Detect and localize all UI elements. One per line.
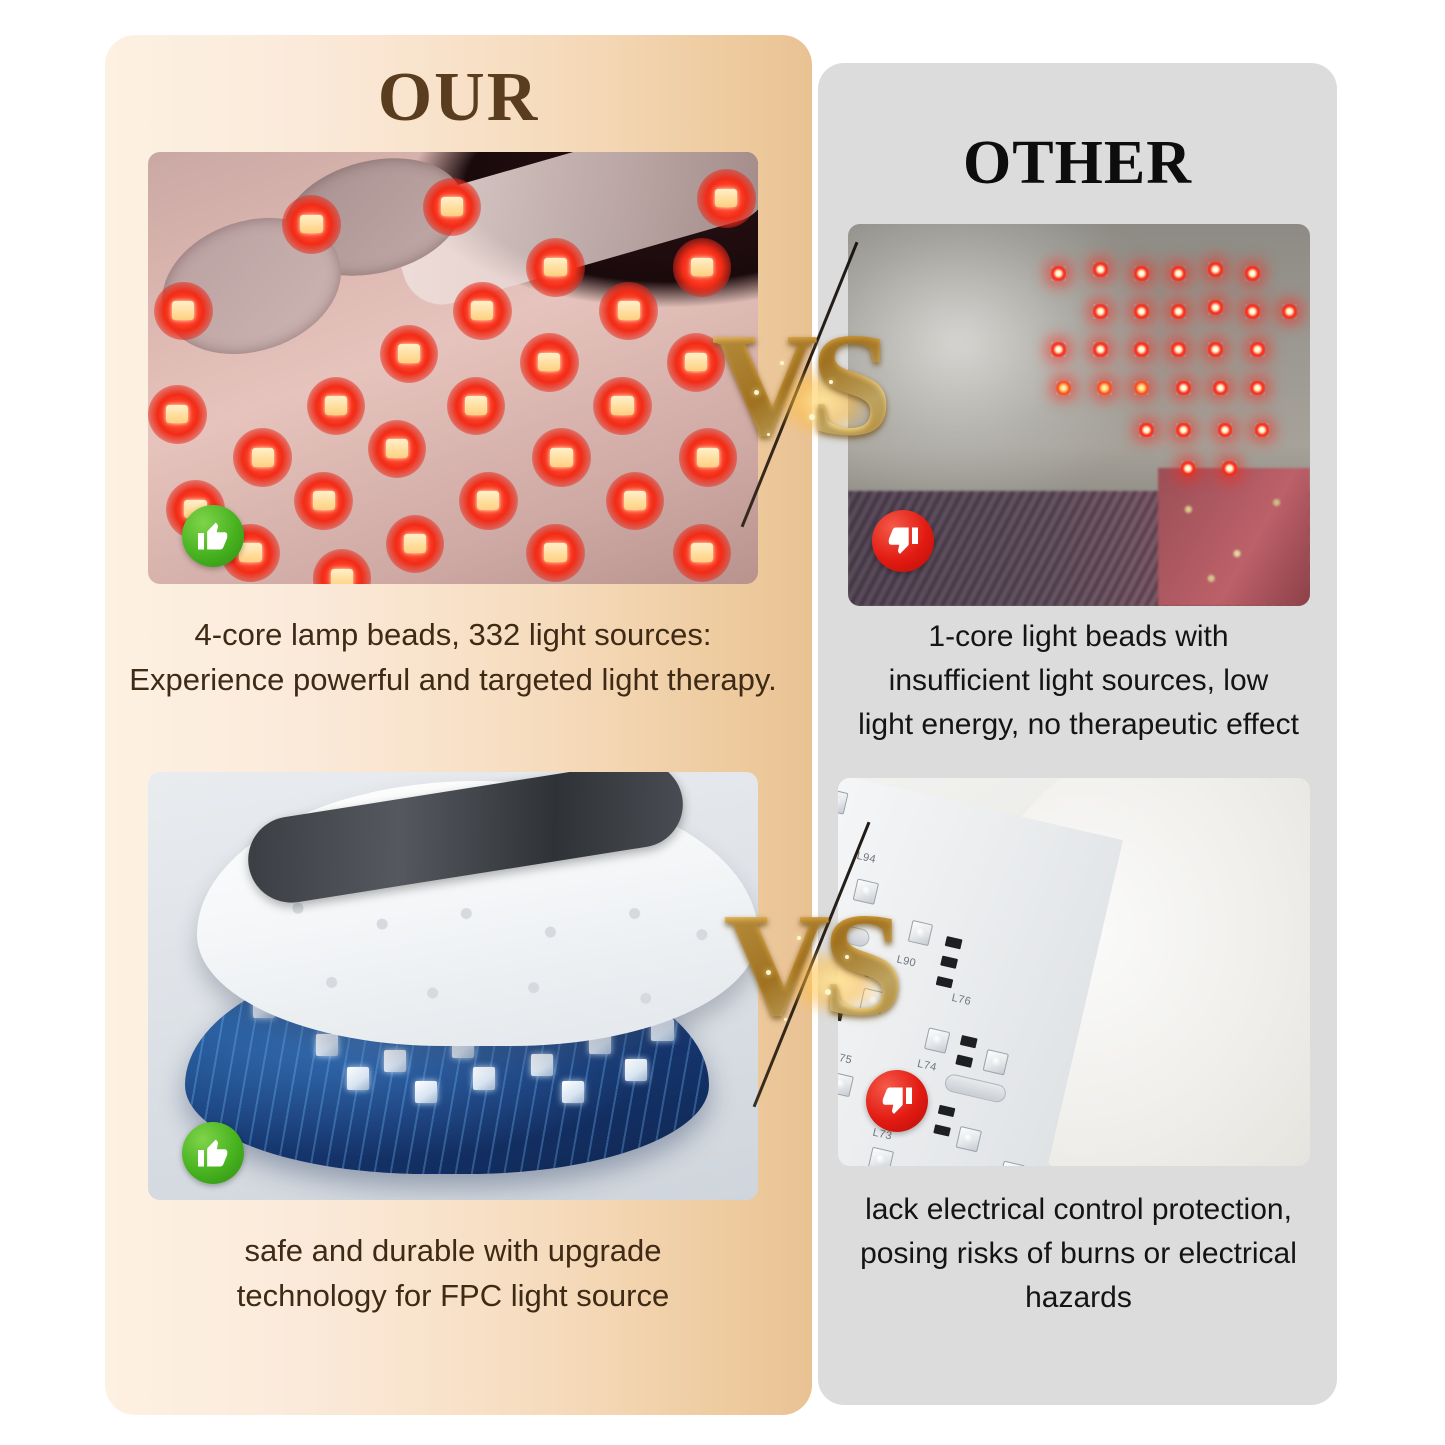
our-caption-bottom: safe and durable with upgrade technology…	[118, 1228, 788, 1318]
comparison-infographic: OUR OTHER	[0, 0, 1445, 1445]
other-heading: OTHER	[818, 128, 1337, 199]
caption-line: lack electrical control protection,	[826, 1188, 1331, 1232]
pcb-silk-label: L90	[895, 954, 917, 970]
caption-line: Experience powerful and targeted light t…	[118, 657, 788, 702]
caption-line: 4-core lamp beads, 332 light sources:	[118, 612, 788, 657]
mask-haze	[848, 224, 1158, 511]
pcb-silk-label: L94	[856, 850, 878, 866]
caption-line: technology for FPC light source	[118, 1273, 788, 1318]
our-heading: OUR	[105, 58, 812, 138]
thumbs-up-icon	[182, 1122, 244, 1184]
pcb-silk-label: L75	[838, 1051, 853, 1067]
our-photo-fpc-board	[148, 772, 758, 1200]
caption-line: safe and durable with upgrade	[118, 1228, 788, 1273]
caption-line: 1-core light beads with	[826, 615, 1331, 659]
pcb-silk-label: L76	[951, 992, 973, 1008]
caption-line: hazards	[826, 1276, 1331, 1320]
other-caption-top: 1-core light beads with insufficient lig…	[826, 615, 1331, 747]
pcb-silk-label: L74	[916, 1058, 938, 1074]
caption-line: posing risks of burns or electrical	[826, 1232, 1331, 1276]
fabric-pattern	[1158, 468, 1310, 606]
fpc-exploded-view-image	[148, 772, 758, 1200]
caption-line: insufficient light sources, low	[826, 659, 1331, 703]
our-caption-top: 4-core lamp beads, 332 light sources: Ex…	[118, 612, 788, 702]
thumbs-up-icon	[182, 505, 244, 567]
thumbs-down-icon	[866, 1070, 928, 1132]
thumbs-down-icon	[872, 510, 934, 572]
other-caption-bottom: lack electrical control protection, posi…	[826, 1188, 1331, 1320]
pcb-silk-label: L92	[864, 967, 886, 983]
caption-line: light energy, no therapeutic effect	[826, 703, 1331, 747]
